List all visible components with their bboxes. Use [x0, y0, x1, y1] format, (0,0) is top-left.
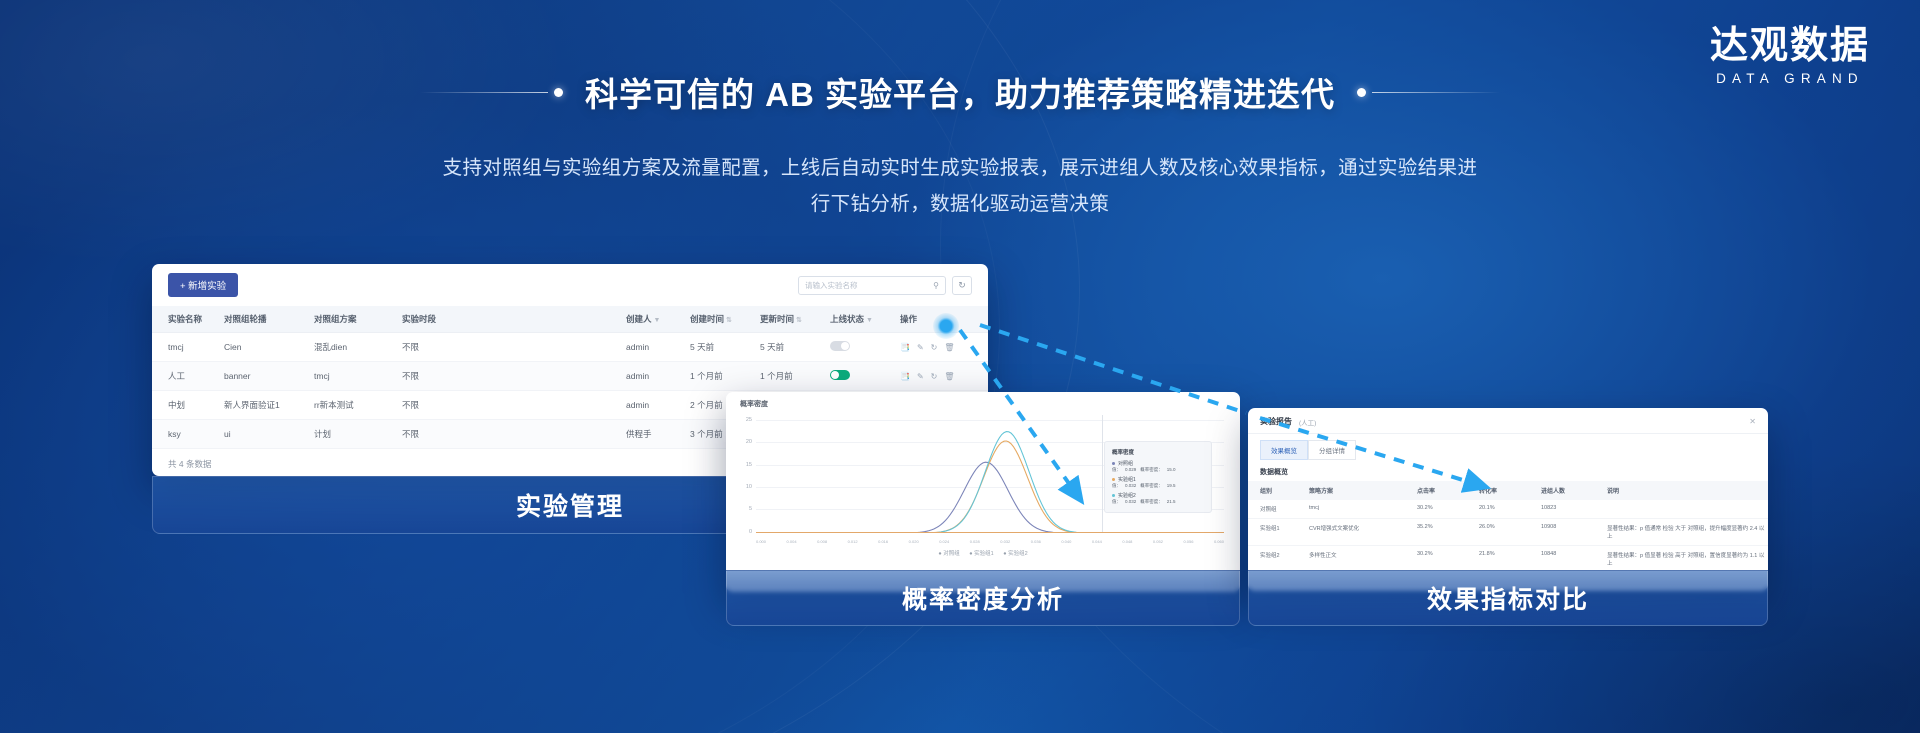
table-row[interactable]: 对照组 tmcj 30.2% 20.1% 10823 [1248, 500, 1768, 519]
table-row[interactable]: 实验组2 多样性正文 30.2% 21.8% 10848 显著性结果：p 值显著… [1248, 546, 1768, 573]
y-tick: 10 [746, 484, 752, 490]
x-tick: 0.016 [878, 539, 888, 544]
cell-created: 5 天前 [690, 333, 760, 362]
column-header-group: 组别 [1248, 481, 1306, 500]
x-tick: 0.024 [939, 539, 949, 544]
cell-ctrl-plan: 计划 [314, 420, 402, 449]
column-header-note: 说明 [1604, 481, 1768, 500]
y-tick: 5 [749, 506, 752, 512]
cell-ctrl-plan: tmcj [314, 362, 402, 391]
close-icon[interactable]: ✕ [1749, 417, 1756, 426]
cell-owner: admin [626, 333, 690, 362]
cell-cvr: 20.1% [1476, 500, 1538, 519]
cell-period: 不限 [402, 391, 476, 420]
column-header-owner[interactable]: 创建人▼ [626, 306, 690, 333]
edit-icon[interactable]: ✎ [917, 343, 924, 352]
column-header-spacer [476, 306, 626, 333]
table-row[interactable]: tmcj Cien 混乱dien 不限 admin 5 天前 5 天前 📑✎↻🗑 [152, 333, 988, 362]
cell-cvr: 21.8% [1476, 546, 1538, 573]
status-toggle[interactable] [830, 341, 850, 351]
x-tick: 0.032 [1000, 539, 1010, 544]
cell-period: 不限 [402, 362, 476, 391]
tooltip-group-label: 实验组1 [1112, 476, 1204, 483]
x-tick: 0.020 [909, 539, 919, 544]
legend-item[interactable]: ● 对照组 [938, 551, 959, 557]
search-input[interactable]: 请输入实验名称 ⚲ [798, 276, 946, 295]
cell-owner: admin [626, 391, 690, 420]
x-tick: 0.040 [1061, 539, 1071, 544]
cell-ctrl-carousel: ui [224, 420, 314, 449]
hero-subtitle: 支持对照组与实验组方案及流量配置，上线后自动实时生成实验报表，展示进组人数及核心… [250, 150, 1670, 222]
x-tick: 0.056 [1183, 539, 1193, 544]
x-tick: 0.012 [848, 539, 858, 544]
cell-ctrl-carousel: Cien [224, 333, 314, 362]
cell-owner: admin [626, 362, 690, 391]
cell-note [1604, 500, 1768, 519]
search-placeholder: 请输入实验名称 [805, 280, 858, 291]
cell-created: 1 个月前 [690, 362, 760, 391]
copy-icon[interactable]: 📑 [900, 372, 910, 381]
table-toolbar: + 新增实验 请输入实验名称 ⚲ ↻ [152, 264, 988, 306]
table-row[interactable]: 人工 banner tmcj 不限 admin 1 个月前 1 个月前 📑✎↻🗑 [152, 362, 988, 391]
cell-group: 对照组 [1248, 500, 1306, 519]
tooltip-heading: 概率密度 [1112, 448, 1204, 456]
x-tick: 0.008 [817, 539, 827, 544]
caption-metric-comparison: 效果指标对比 [1248, 570, 1768, 626]
cell-period: 不限 [402, 333, 476, 362]
cell-ctrl-plan: 混乱dien [314, 333, 402, 362]
report-subtitle: (人工) [1299, 417, 1316, 427]
column-header-updated[interactable]: 更新时间⇅ [760, 306, 830, 333]
cell-ctr: 30.2% [1414, 546, 1476, 573]
tooltip-group-values: 值：0.029 概率密度：15.0 [1112, 467, 1204, 473]
x-tick: 0.036 [1031, 539, 1041, 544]
search-icon[interactable]: ⚲ [933, 281, 939, 290]
cell-ctrl-plan: rr新本测试 [314, 391, 402, 420]
cell-name: 中划 [152, 391, 224, 420]
y-axis: 25 20 15 10 5 0 [736, 415, 754, 533]
x-tick: 0.044 [1092, 539, 1102, 544]
cell-owner: 供程手 [626, 420, 690, 449]
chart-tooltip: 概率密度 对照组 值：0.029 概率密度：15.0 实验组1 值：0.032 … [1104, 441, 1212, 513]
metric-comparison-screenshot[interactable]: 实验报告 (人工) ✕ 效果概览 分组详情 数据概览 组别 策略方案 点击率 转… [1248, 408, 1768, 591]
column-header-ctr: 点击率 [1414, 481, 1476, 500]
chart-title: 概率密度 [726, 392, 1240, 409]
subtitle-line-2: 行下钻分析，数据化驱动运营决策 [250, 186, 1670, 222]
cell-ctr: 35.2% [1414, 519, 1476, 546]
add-experiment-button[interactable]: + 新增实验 [168, 273, 238, 297]
table-header-row: 组别 策略方案 点击率 转化率 进组人数 说明 [1248, 481, 1768, 500]
link-icon[interactable]: ↻ [931, 343, 938, 352]
density-plot: 25 20 15 10 5 0 0.000 0.004 0.008 0.012 … [736, 415, 1230, 547]
x-axis-line [756, 532, 1224, 533]
cell-users: 10823 [1538, 500, 1604, 519]
x-axis-ticks: 0.000 0.004 0.008 0.012 0.016 0.020 0.02… [756, 539, 1224, 544]
legend-item[interactable]: ● 实验组2 [1003, 551, 1027, 557]
column-header-period: 实验时段 [402, 306, 476, 333]
table-header-row: 实验名称 对照组轮播 对照组方案 实验时段 创建人▼ 创建时间⇅ 更新时间⇅ 上… [152, 306, 988, 333]
sort-icon[interactable]: ⇅ [726, 317, 732, 324]
column-header-created[interactable]: 创建时间⇅ [690, 306, 760, 333]
delete-icon[interactable]: 🗑 [944, 343, 954, 352]
hero-title-row: 科学可信的 AB 实验平台，助力推荐策略精进迭代 [0, 68, 1920, 116]
delete-icon[interactable]: 🗑 [944, 372, 954, 381]
column-header-ctrl-plan: 对照组方案 [314, 306, 402, 333]
decoration-dot-left [554, 88, 563, 97]
tooltip-group-label: 对照组 [1112, 460, 1204, 467]
cell-ctrl-carousel: banner [224, 362, 314, 391]
filter-icon[interactable]: ▼ [654, 317, 661, 324]
cell-name: 人工 [152, 362, 224, 391]
cell-spacer [476, 333, 626, 362]
y-tick: 0 [749, 529, 752, 535]
tab-group-detail[interactable]: 分组详情 [1308, 440, 1356, 460]
cell-spacer [476, 362, 626, 391]
cell-updated: 1 个月前 [760, 362, 830, 391]
refresh-icon[interactable]: ↻ [952, 276, 972, 295]
cell-ctrl-carousel: 新人界面验证1 [224, 391, 314, 420]
column-header-ctrl-carousel: 对照组轮播 [224, 306, 314, 333]
toolbar-right: 请输入实验名称 ⚲ ↻ [798, 276, 972, 295]
title-decoration-left [420, 88, 563, 97]
cell-ctr: 30.2% [1414, 500, 1476, 519]
y-tick: 15 [746, 462, 752, 468]
legend-item[interactable]: ● 实验组1 [969, 551, 993, 557]
tooltip-group-values: 值：0.032 概率密度：19.5 [1112, 483, 1204, 489]
cell-plan: CVR增强式文案优化 [1306, 519, 1414, 546]
cell-note: 显著性结果：p 值显著 检验 高于 对照组，置信度显著约为 1.1 以上 [1604, 546, 1768, 573]
x-tick: 0.028 [970, 539, 980, 544]
y-tick: 25 [746, 417, 752, 423]
probability-density-screenshot[interactable]: 概率密度 25 20 15 10 5 0 0.000 0.004 0.008 0… [726, 392, 1240, 592]
cell-users: 10908 [1538, 519, 1604, 546]
cell-plan: tmcj [1306, 500, 1414, 519]
filter-icon[interactable]: ▼ [866, 317, 873, 324]
report-tabs: 效果概览 分组详情 [1248, 434, 1768, 460]
caption-probability-density: 概率密度分析 [726, 570, 1240, 626]
crosshair-line [1102, 415, 1103, 533]
tab-overview[interactable]: 效果概览 [1260, 440, 1308, 460]
x-tick: 0.052 [1153, 539, 1163, 544]
copy-icon[interactable]: 📑 [900, 343, 910, 352]
cell-group: 实验组2 [1248, 546, 1306, 573]
cell-spacer [476, 391, 626, 420]
subtitle-line-1: 支持对照组与实验组方案及流量配置，上线后自动实时生成实验报表，展示进组人数及核心… [250, 150, 1670, 186]
decoration-line-right [1372, 92, 1500, 93]
column-header-online-status[interactable]: 上线状态▼ [830, 306, 900, 333]
x-tick: 0.048 [1122, 539, 1132, 544]
x-tick: 0.004 [787, 539, 797, 544]
y-tick: 20 [746, 439, 752, 445]
cell-spacer [476, 420, 626, 449]
hotspot-pulse [933, 313, 959, 339]
column-header-cvr: 转化率 [1476, 481, 1538, 500]
cell-plan: 多样性正文 [1306, 546, 1414, 573]
column-header-users: 进组人数 [1538, 481, 1604, 500]
report-header: 实验报告 (人工) ✕ [1248, 408, 1768, 434]
cell-note: 显著性结果：p 值通常 检验 大于 对照组，提升幅度显著约 2.4 以上 [1604, 519, 1768, 546]
cell-online-toggle[interactable] [830, 362, 900, 391]
cell-cvr: 26.0% [1476, 519, 1538, 546]
report-title: 实验报告 [1260, 416, 1292, 427]
cell-updated: 5 天前 [760, 333, 830, 362]
page-title: 科学可信的 AB 实验平台，助力推荐策略精进迭代 [585, 68, 1335, 116]
metric-table: 组别 策略方案 点击率 转化率 进组人数 说明 对照组 tmcj 30.2% 2… [1248, 481, 1768, 573]
tooltip-group-label: 实验组2 [1112, 492, 1204, 499]
column-header-name: 实验名称 [152, 306, 224, 333]
sort-icon[interactable]: ⇅ [796, 317, 802, 324]
brand-name-cn: 达观数据 [1710, 26, 1870, 67]
chart-legend[interactable]: ● 对照组 ● 实验组1 ● 实验组2 [726, 549, 1240, 557]
x-tick: 0.000 [756, 539, 766, 544]
column-header-plan: 策略方案 [1306, 481, 1414, 500]
decoration-line-left [420, 92, 548, 93]
cell-name: tmcj [152, 333, 224, 362]
edit-icon[interactable]: ✎ [917, 372, 924, 381]
cell-period: 不限 [402, 420, 476, 449]
cell-online-toggle[interactable] [830, 333, 900, 362]
decoration-dot-right [1357, 88, 1366, 97]
section-title: 数据概览 [1248, 460, 1768, 481]
cell-group: 实验组1 [1248, 519, 1306, 546]
link-icon[interactable]: ↻ [931, 372, 938, 381]
cell-actions[interactable]: 📑✎↻🗑 [900, 362, 988, 391]
cell-users: 10848 [1538, 546, 1604, 573]
x-tick: 0.060 [1214, 539, 1224, 544]
tooltip-group-values: 值：0.032 概率密度：21.5 [1112, 499, 1204, 505]
cell-name: ksy [152, 420, 224, 449]
status-toggle[interactable] [830, 370, 850, 380]
title-decoration-right [1357, 88, 1500, 97]
table-row[interactable]: 实验组1 CVR增强式文案优化 35.2% 26.0% 10908 显著性结果：… [1248, 519, 1768, 546]
